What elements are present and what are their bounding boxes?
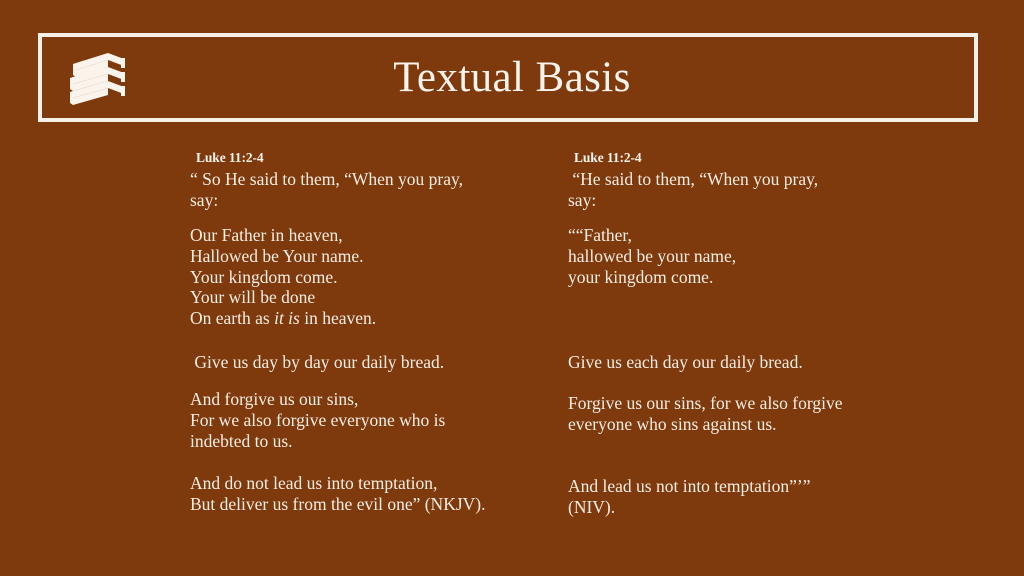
passage-paragraph-right-4: And lead us not into temptation”’” (NIV)… [568, 476, 908, 518]
passage-paragraph-right-1: ““Father, hallowed be your name, your ki… [568, 225, 908, 287]
passage-paragraph-left-4: And do not lead us into temptation, But … [190, 473, 530, 515]
passage-paragraph-left-0: “ So He said to them, “When you pray, sa… [190, 169, 530, 211]
passage-italic-phrase-left: it is [274, 308, 300, 328]
passage-paragraph-right-2: Give us each day our daily bread. [568, 352, 908, 373]
passage-paragraph-right-3: Forgive us our sins, for we also forgive… [568, 393, 908, 435]
passage-paragraph-left-3: And forgive us our sins, For we also for… [190, 389, 530, 451]
passage-paragraph-left-1: Our Father in heaven, Hallowed be Your n… [190, 225, 530, 329]
header-band: Textual Basis [38, 33, 978, 122]
passage-paragraph-right-0: “He said to them, “When you pray, say: [568, 169, 908, 211]
reference-heading-right: Luke 11:2-4 [574, 149, 914, 166]
passage-text-left-1-tail: in heaven. [300, 308, 376, 328]
reference-heading-left: Luke 11:2-4 [196, 149, 536, 166]
page-title: Textual Basis [42, 37, 982, 118]
passage-paragraph-left-2: Give us day by day our daily bread. [190, 352, 530, 373]
slide-root: { "slide": { "title": "Textual Basis", "… [0, 0, 1024, 576]
passage-comparison: Luke 11:2-4 “ So He said to them, “When … [0, 143, 1024, 563]
